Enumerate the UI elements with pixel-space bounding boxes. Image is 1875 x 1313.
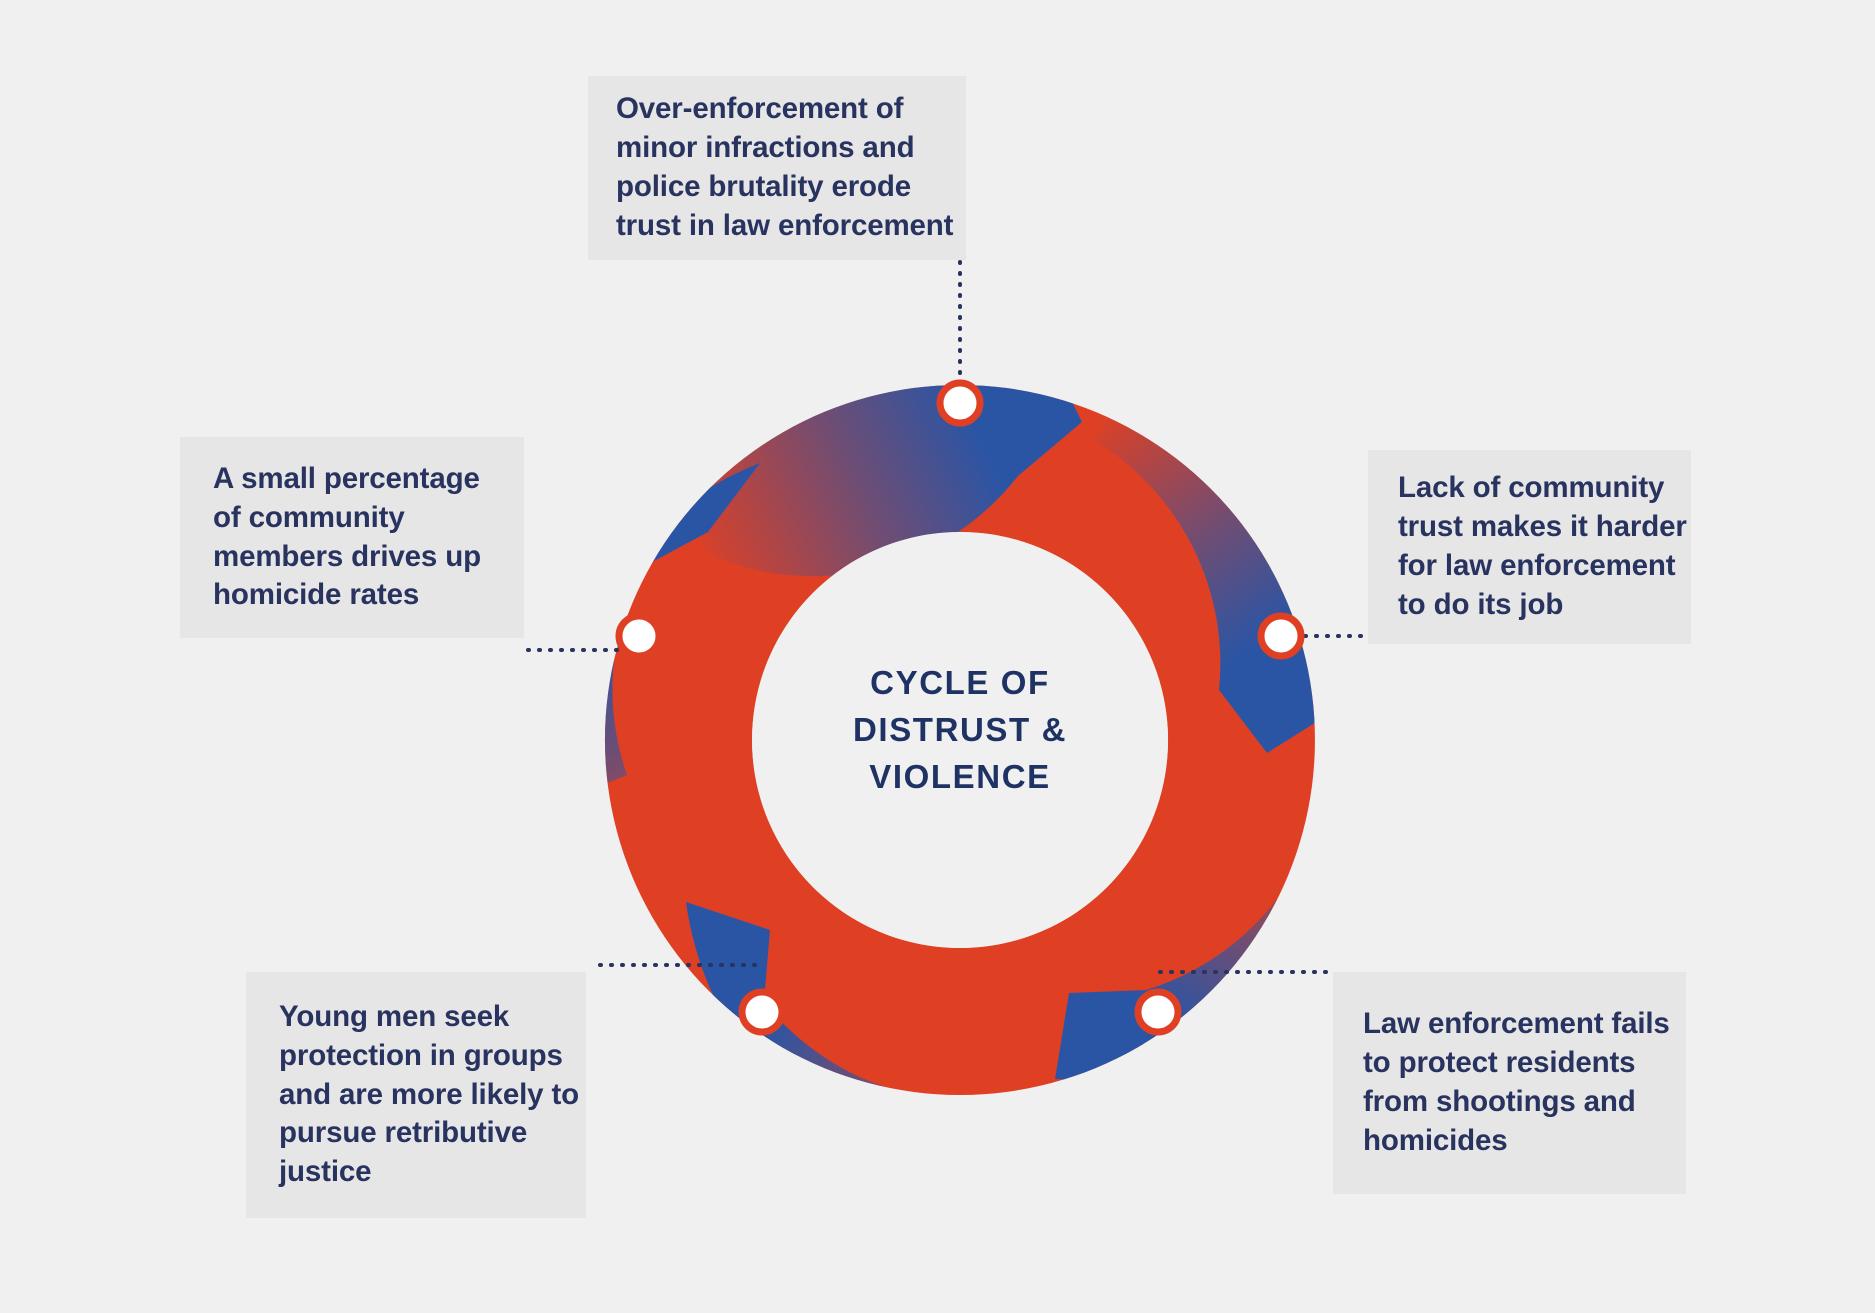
callout-bottom-right[interactable]: Law enforcement fails to protect residen… xyxy=(1333,972,1686,1194)
callout-left[interactable]: A small percentage of community members … xyxy=(180,437,524,638)
node-marker-left[interactable] xyxy=(619,616,659,656)
node-marker-bottom-left[interactable] xyxy=(742,992,782,1032)
ring-inner-hole xyxy=(752,532,1168,948)
diagram-canvas: CYCLE OF DISTRUST & VIOLENCE Over-enforc… xyxy=(0,0,1875,1313)
callout-bottom-right-text: Law enforcement fails to protect residen… xyxy=(1363,1005,1670,1161)
callout-bottom-left-text: Young men seek protection in groups and … xyxy=(279,998,579,1193)
node-marker-top[interactable] xyxy=(940,383,980,423)
callout-right[interactable]: Lack of community trust makes it harder … xyxy=(1368,450,1691,644)
callout-top-text: Over-enforcement of minor infractions an… xyxy=(616,90,953,246)
callout-top[interactable]: Over-enforcement of minor infractions an… xyxy=(588,76,966,260)
callout-bottom-left[interactable]: Young men seek protection in groups and … xyxy=(246,972,586,1218)
callout-right-text: Lack of community trust makes it harder … xyxy=(1398,469,1687,625)
callout-left-text: A small percentage of community members … xyxy=(213,460,481,616)
node-marker-right[interactable] xyxy=(1261,616,1301,656)
node-marker-bottom-right[interactable] xyxy=(1138,992,1178,1032)
